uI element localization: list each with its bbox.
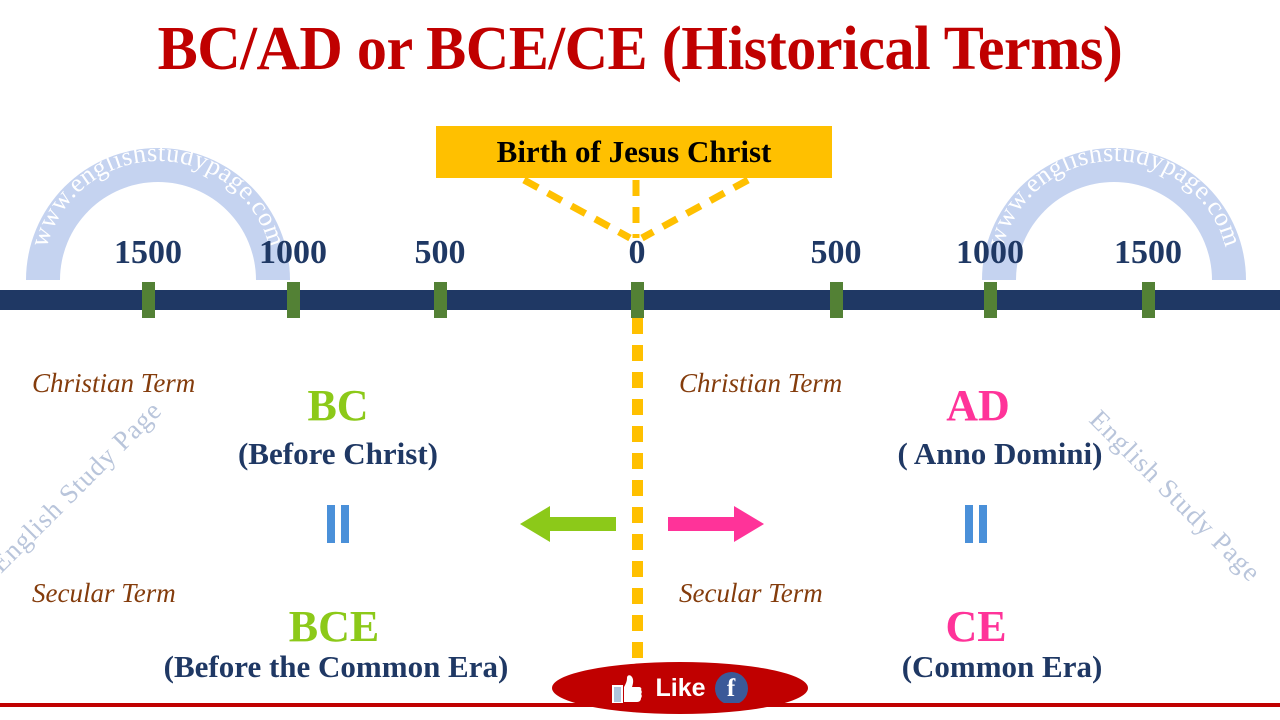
timeline-tick-ad-500	[830, 282, 843, 318]
right-christian-abbr: AD	[778, 383, 1178, 429]
year-label-ad-500: 500	[776, 236, 896, 270]
right-christian-full: ( Anno Domini)	[740, 437, 1260, 470]
timeline-tick-ad-1500	[1142, 282, 1155, 318]
left-secular-full: (Before the Common Era)	[76, 650, 596, 683]
bc-left-arrow-icon	[520, 506, 616, 542]
page-title: BC/AD or BCE/CE (Historical Terms)	[19, 14, 1261, 84]
right-equals-symbol	[961, 505, 991, 543]
leader-line-left	[524, 180, 630, 238]
year-label-ad-1500: 1500	[1088, 236, 1208, 270]
diagonal-watermark-right: English Study Page	[1083, 404, 1267, 588]
left-christian-full: (Before Christ)	[78, 437, 598, 470]
year-label-bc-500: 500	[380, 236, 500, 270]
left-secular-abbr: BCE	[134, 604, 534, 650]
timeline-tick-bc-500	[434, 282, 447, 318]
infographic-canvas: BC/AD or BCE/CE (Historical Terms) www.e…	[0, 0, 1280, 720]
callout-leader-lines	[436, 176, 836, 242]
year-label-ad-1000: 1000	[930, 236, 1050, 270]
thumbs-up-icon	[612, 671, 646, 705]
birth-of-jesus-callout: Birth of Jesus Christ	[436, 126, 832, 178]
like-label: Like	[655, 676, 705, 701]
timeline-tick-zero	[631, 282, 644, 318]
left-equals-symbol	[323, 505, 353, 543]
timeline-tick-ad-1000	[984, 282, 997, 318]
year-label-zero: 0	[577, 236, 697, 270]
leader-line-right	[642, 180, 748, 238]
year-label-bc-1000: 1000	[233, 236, 353, 270]
year-label-bc-1500: 1500	[88, 236, 208, 270]
timeline-tick-bc-1500	[142, 282, 155, 318]
birth-of-jesus-callout-label: Birth of Jesus Christ	[497, 134, 772, 170]
left-christian-abbr: BC	[138, 383, 538, 429]
ad-right-arrow-icon	[668, 506, 764, 542]
bottom-divider	[0, 703, 1280, 707]
timeline-tick-bc-1000	[287, 282, 300, 318]
facebook-icon[interactable]: f	[715, 672, 748, 705]
zero-axis-dashed-line	[632, 318, 643, 673]
right-secular-abbr: CE	[776, 604, 1176, 650]
right-secular-full: (Common Era)	[742, 650, 1262, 683]
